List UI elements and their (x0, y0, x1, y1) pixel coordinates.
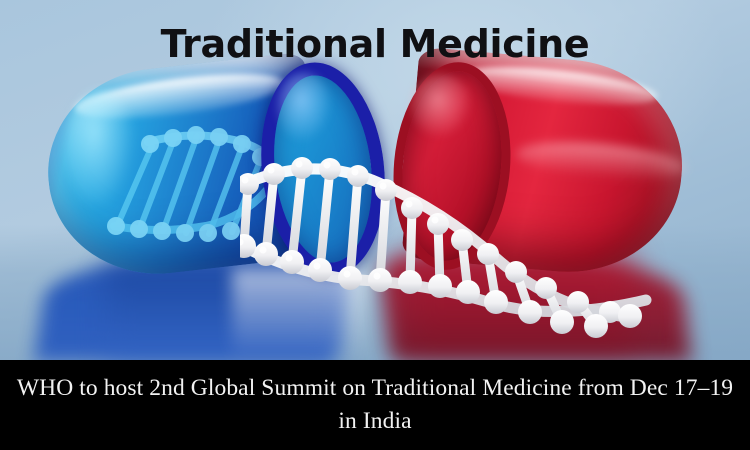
caption-band: WHO to host 2nd Global Summit on Traditi… (0, 360, 750, 450)
hero-image: Traditional Medicine (0, 0, 750, 360)
caption-headline: WHO to host 2nd Global Summit on Traditi… (14, 372, 736, 438)
dna-helix-icon (240, 150, 660, 360)
red-capsule-rim-highlight (410, 74, 472, 138)
hero-title: Traditional Medicine (0, 22, 750, 66)
news-card: Traditional Medicine WHO to host 2nd Glo… (0, 0, 750, 450)
blue-capsule-rim-highlight (276, 72, 332, 142)
